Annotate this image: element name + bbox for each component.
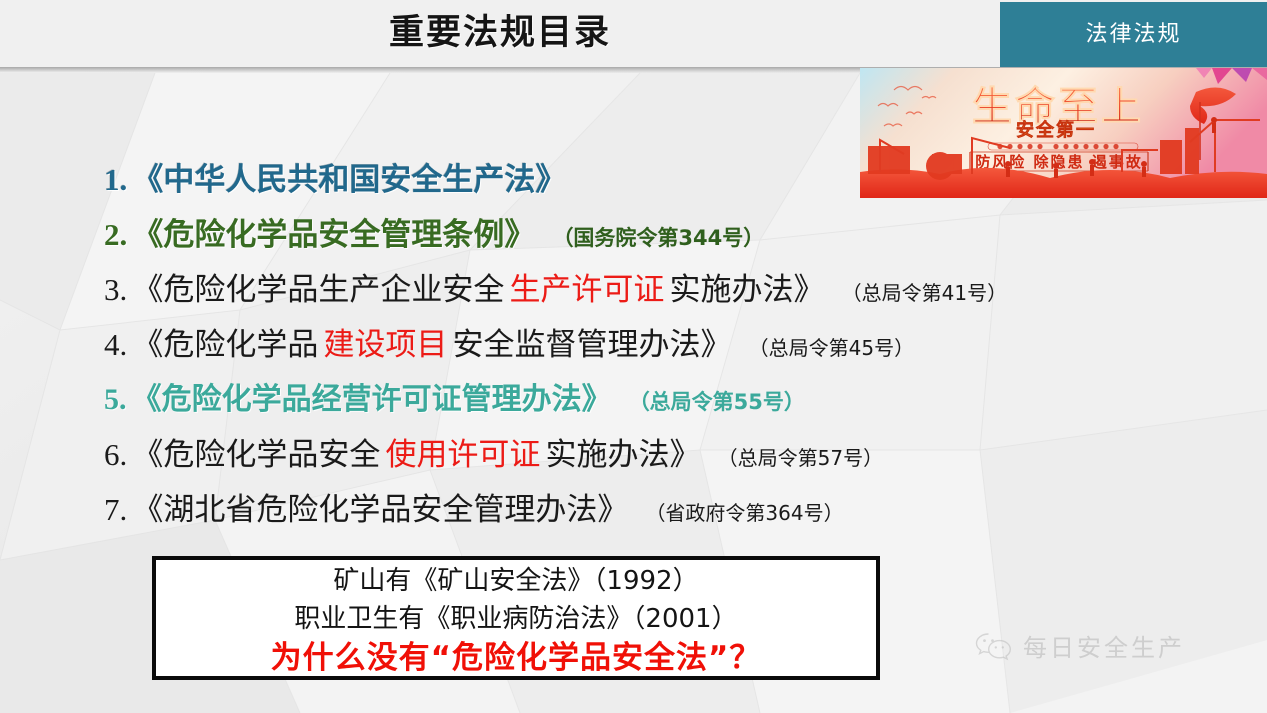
list-item-title: 《中华人民共和国安全生产法》 xyxy=(132,162,566,198)
list-item-decree: （总局令第41号） xyxy=(842,281,1007,305)
list-item-number: 3. xyxy=(104,272,127,307)
list-item-title-highlight: 建设项目 xyxy=(323,327,447,363)
callout-question: 为什么没有“危险化学品安全法”？ xyxy=(156,638,876,678)
list-item-number: 1. xyxy=(104,162,127,197)
list-item[interactable]: 5. 《危险化学品经营许可证管理办法》 （总局令第55号） xyxy=(104,372,1114,427)
list-item-title-suffix: 实施办法》 xyxy=(546,437,701,473)
question-callout-box: 矿山有《矿山安全法》（1992） 职业卫生有《职业病防治法》（2001） 为什么… xyxy=(152,556,880,680)
list-item-decree: （总局令第55号） xyxy=(629,390,805,414)
list-item-title-highlight: 使用许可证 xyxy=(385,437,540,473)
list-item-title: 《危险化学品安全管理条例》 xyxy=(132,217,535,253)
list-item-title: 《湖北省危险化学品安全管理办法》 xyxy=(132,492,628,528)
list-item[interactable]: 7. 《湖北省危险化学品安全管理办法》 （省政府令第364号） xyxy=(104,482,1114,537)
list-item-title-prefix: 《危险化学品 xyxy=(132,327,318,363)
callout-line-1: 矿山有《矿山安全法》（1992） xyxy=(156,564,876,598)
list-item[interactable]: 2. 《危险化学品安全管理条例》 （国务院令第344号） xyxy=(104,207,1114,262)
list-item-title-prefix: 《危险化学品生产企业安全 xyxy=(132,272,504,308)
list-item-title-suffix: 安全监督管理办法》 xyxy=(453,327,732,363)
list-item-title-prefix: 《危险化学品安全 xyxy=(132,437,380,473)
list-item-decree: （总局令第45号） xyxy=(749,336,914,360)
list-item-decree: （总局令第57号） xyxy=(718,446,883,470)
list-item-title-suffix: 实施办法》 xyxy=(670,272,825,308)
list-item-title: 《危险化学品经营许可证管理办法》 xyxy=(132,382,612,417)
callout-line-2: 职业卫生有《职业病防治法》（2001） xyxy=(156,602,876,636)
list-item-title-highlight: 生产许可证 xyxy=(509,272,664,308)
list-item-number: 5. xyxy=(104,383,127,416)
list-item-number: 4. xyxy=(104,327,127,362)
list-item-number: 7. xyxy=(104,492,127,527)
section-badge: 法律法规 xyxy=(1000,2,1267,67)
wechat-icon xyxy=(975,631,1013,661)
list-item-decree: （省政府令第364号） xyxy=(645,501,843,525)
svg-text:安全第一: 安全第一 xyxy=(1016,119,1096,141)
list-item[interactable]: 1. 《中华人民共和国安全生产法》 xyxy=(104,152,1114,207)
list-item[interactable]: 4. 《危险化学品 建设项目 安全监督管理办法》 （总局令第45号） xyxy=(104,317,1114,372)
list-item-number: 2. xyxy=(104,217,127,252)
list-item[interactable]: 3. 《危险化学品生产企业安全 生产许可证 实施办法》 （总局令第41号） xyxy=(104,262,1114,317)
list-item-number: 6. xyxy=(104,437,127,472)
slide-root: 重要法规目录 法律法规 xyxy=(0,0,1267,713)
list-item-decree: （国务院令第344号） xyxy=(552,226,764,250)
watermark: 每日安全生产 xyxy=(975,628,1185,663)
list-item[interactable]: 6. 《危险化学品安全 使用许可证 实施办法》 （总局令第57号） xyxy=(104,427,1114,482)
page-title: 重要法规目录 xyxy=(0,6,1000,61)
regulation-list: 1. 《中华人民共和国安全生产法》 2. 《危险化学品安全管理条例》 （国务院令… xyxy=(104,152,1114,537)
watermark-text: 每日安全生产 xyxy=(1023,628,1185,663)
